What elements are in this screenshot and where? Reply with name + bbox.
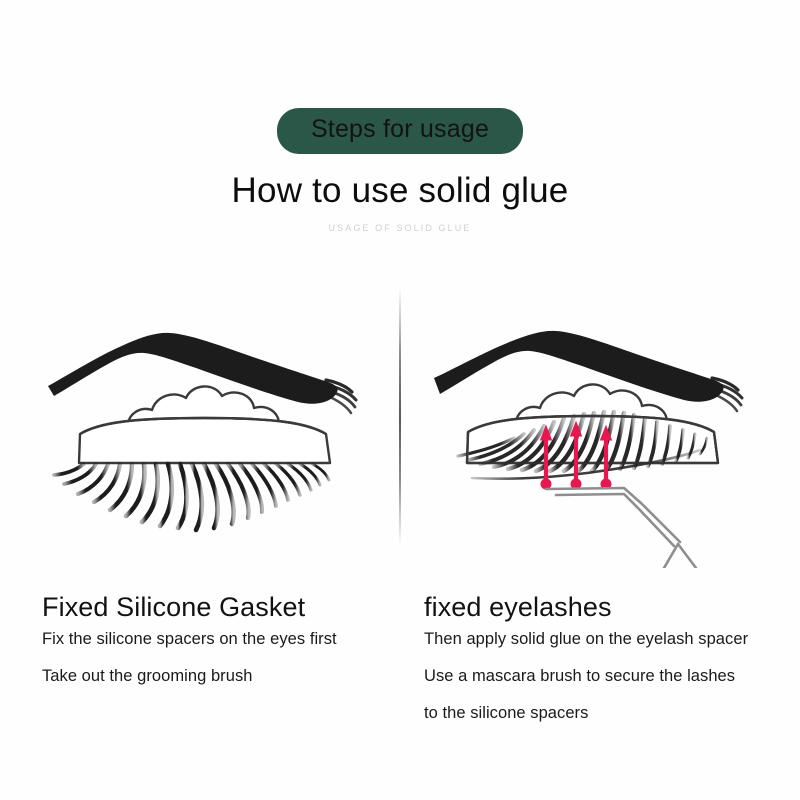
instruction-page: Steps for usage How to use solid glue US… <box>0 0 800 800</box>
step-2-line-1: Then apply solid glue on the eyelash spa… <box>424 630 790 650</box>
badge-row: Steps for usage <box>0 108 800 154</box>
eyelashes-down <box>54 464 329 530</box>
page-header: Steps for usage How to use solid glue US… <box>0 0 800 233</box>
step-1-line-2: Take out the grooming brush <box>42 667 392 687</box>
eye-with-silicone-gasket-illustration <box>40 318 380 548</box>
step-1-line-1: Fix the silicone spacers on the eyes fir… <box>42 630 392 650</box>
vertical-divider <box>399 288 401 546</box>
step-1-heading: Fixed Silicone Gasket <box>42 592 392 622</box>
step-2-line-3: to the silicone spacers <box>424 704 790 724</box>
tweezer-tool <box>546 488 696 568</box>
step-2-line-2: Use a mascara brush to secure the lashes <box>424 667 790 687</box>
step-2-heading: fixed eyelashes <box>424 592 790 622</box>
steps-for-usage-badge: Steps for usage <box>277 108 523 154</box>
page-subtitle: USAGE OF SOLID GLUE <box>0 224 800 233</box>
page-title: How to use solid glue <box>0 173 800 208</box>
step-2-caption: fixed eyelashes Then apply solid glue on… <box>424 592 790 724</box>
step-1-caption: Fixed Silicone Gasket Fix the silicone s… <box>42 592 392 687</box>
eye-with-lashes-pressed-illustration <box>428 318 778 568</box>
